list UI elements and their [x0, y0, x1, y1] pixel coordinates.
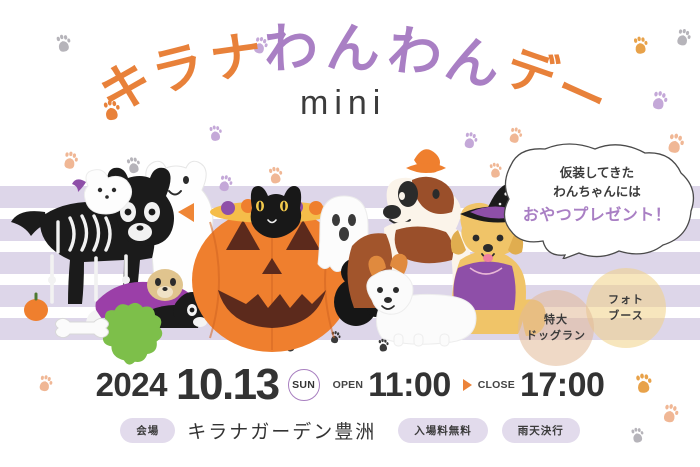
bone-illustration — [56, 318, 109, 337]
weekday-label: SUN — [292, 379, 315, 391]
open-time: 11:00 — [368, 366, 451, 405]
close-time: 17:00 — [520, 366, 604, 405]
bubble-line-2: わんちゃんには — [499, 182, 695, 201]
event-day: 10.13 — [176, 360, 279, 410]
title-char-8: ー — [548, 62, 614, 128]
promo-speech-bubble: 仮装してきた わんちゃんには おやつプレゼント！ — [499, 141, 695, 259]
halloween-dogs-illustration — [0, 150, 540, 350]
arrow-right-icon — [463, 379, 472, 391]
bubble-line-1: 仮装してきた — [499, 163, 695, 182]
open-label: OPEN — [333, 379, 364, 391]
feature-badge-dog-run-line1: 特大 — [526, 312, 586, 329]
bubble-line-3: おやつプレゼント！ — [499, 202, 695, 228]
subtitle-mini: mini — [300, 84, 386, 123]
title-char-2: ナ — [207, 29, 266, 88]
feature-badge-photo-booth-line1: フォト — [608, 292, 644, 309]
poster-title: キラナわんわんデー mini — [0, 0, 700, 130]
event-date-row: 2024 10.13 SUN OPEN 11:00 CLOSE 17:00 — [0, 362, 700, 408]
title-char-4: ん — [325, 21, 382, 78]
feature-badge-dog-run-line2: ドッグラン — [526, 328, 586, 345]
feature-badge-dog-run: 特大 ドッグラン — [518, 290, 594, 366]
event-info-row: 会場 キラナガーデン豊洲 入場料無料 雨天決行 — [0, 415, 700, 445]
title-char-1: ラ — [146, 38, 209, 101]
feature-badge-photo-booth: フォト ブース — [586, 268, 666, 348]
paw-print-icon — [460, 130, 480, 150]
title-char-5: わ — [385, 23, 446, 84]
event-year: 2024 — [96, 366, 167, 404]
black-cat-illustration — [251, 186, 301, 238]
weekday-badge: SUN — [288, 369, 320, 401]
feature-badge-photo-booth-line2: ブース — [608, 308, 644, 325]
title-char-6: ん — [441, 31, 506, 96]
venue-name: キラナガーデン豊洲 — [187, 417, 376, 444]
close-label: CLOSE — [478, 379, 515, 391]
venue-label-pill: 会場 — [120, 418, 175, 443]
title-char-3: わ — [263, 21, 319, 77]
event-poster: キラナわんわんデー mini 仮装してきた わんちゃんには おやつプレゼント！ … — [0, 0, 700, 467]
free-admission-pill: 入場料無料 — [398, 418, 488, 443]
rain-or-shine-pill: 雨天決行 — [502, 418, 580, 443]
